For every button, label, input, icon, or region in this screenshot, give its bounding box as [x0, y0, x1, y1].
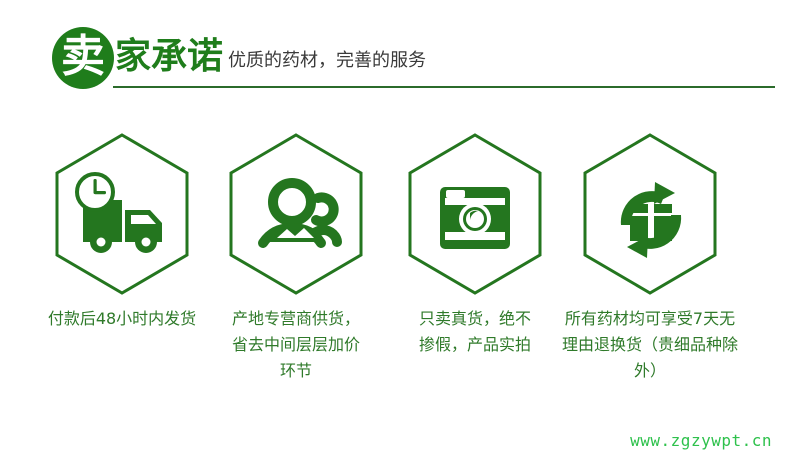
feature-caption: 只卖真货，绝不掺假，产品实拍: [382, 306, 568, 358]
page-subtitle: 优质的药材，完善的服务: [228, 50, 426, 72]
hexagon-frame: [557, 130, 743, 298]
header-divider: [113, 86, 775, 88]
feature-item: 产地专营商供货，省去中间层层加价环节: [203, 130, 389, 384]
page-title: 家承诺: [115, 38, 223, 76]
feature-item: 付款后48小时内发货: [29, 130, 215, 332]
feature-list: 付款后48小时内发货 产地专营商供货，省去中间层层加价环节: [0, 130, 790, 420]
feature-item: 只卖真货，绝不掺假，产品实拍: [382, 130, 568, 358]
hexagon-frame: [203, 130, 389, 298]
hexagon-frame: [29, 130, 215, 298]
feature-caption: 产地专营商供货，省去中间层层加价环节: [203, 306, 389, 384]
feature-caption: 所有药材均可享受7天无理由退换货（贵细品种除外）: [557, 306, 743, 384]
feature-caption: 付款后48小时内发货: [29, 306, 215, 332]
header-banner: 卖 家承诺 优质的药材，完善的服务: [0, 0, 790, 110]
camera-icon: [400, 130, 550, 298]
website-url[interactable]: www.zgzywpt.cn: [630, 431, 772, 451]
two-people-supplier-icon: [221, 130, 371, 298]
return-exchange-box-icon: [575, 130, 725, 298]
hexagon-frame: [382, 130, 568, 298]
seller-badge-circle: 卖: [52, 27, 114, 89]
delivery-truck-clock-icon: [47, 130, 197, 298]
badge-glyph: 卖: [61, 35, 105, 79]
feature-item: 所有药材均可享受7天无理由退换货（贵细品种除外）: [557, 130, 743, 384]
